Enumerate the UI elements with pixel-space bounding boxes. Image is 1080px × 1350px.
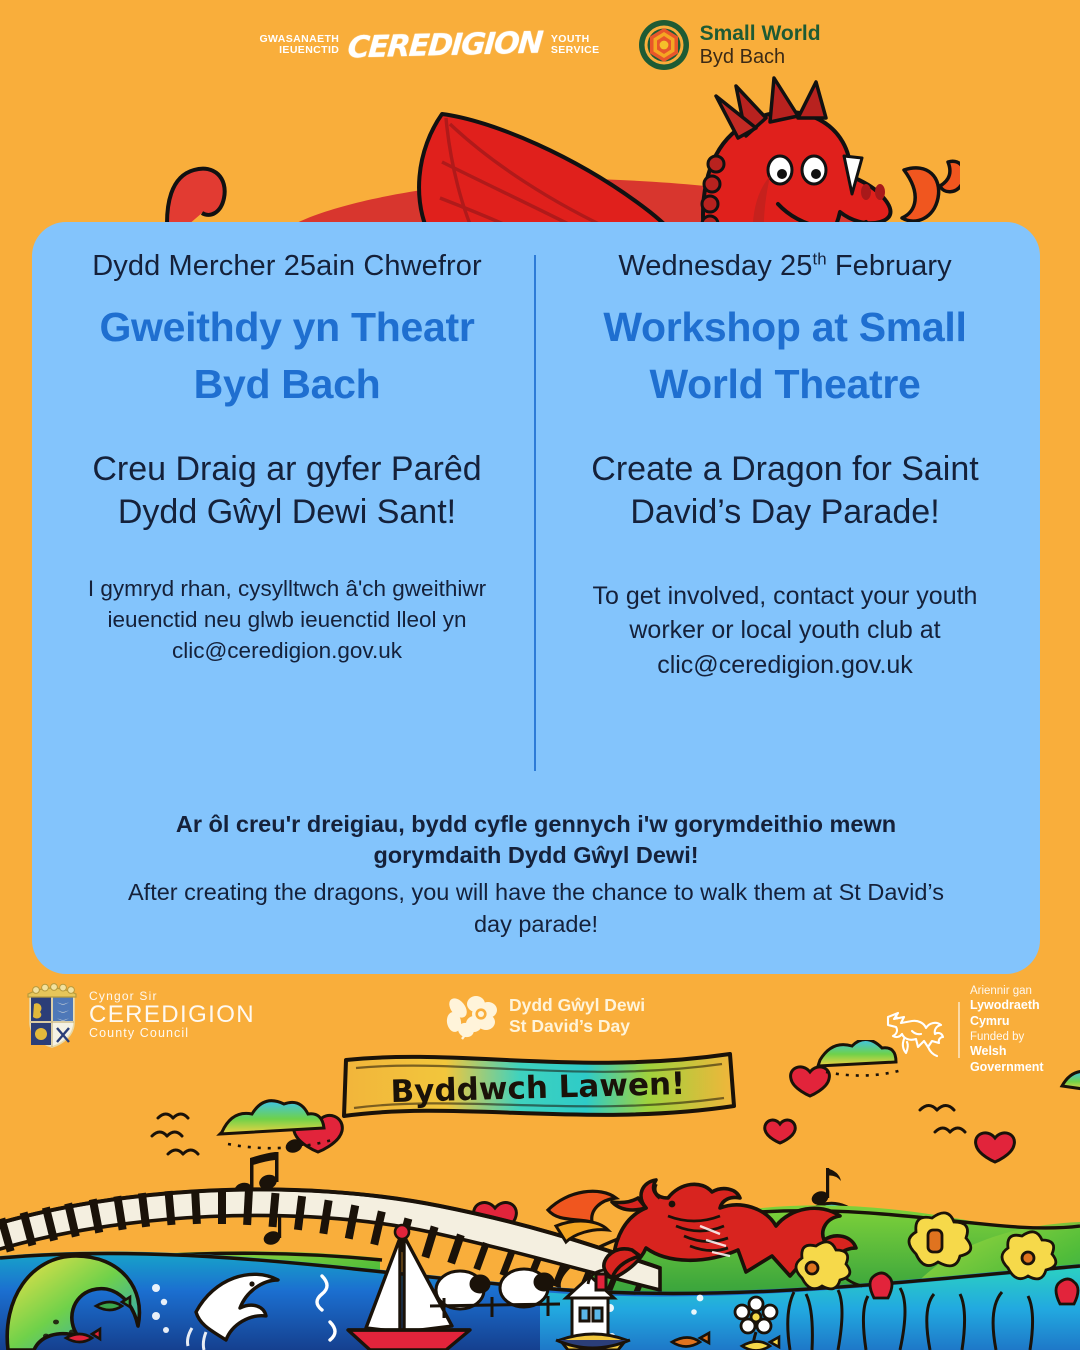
english-date-prefix: Wednesday 25 — [618, 250, 812, 282]
footnote-block: Ar ôl creu'r dreigiau, bydd cyfle gennyc… — [32, 809, 1040, 940]
english-title: Workshop at Small World Theatre — [562, 299, 1008, 412]
footnote-welsh: Ar ôl creu'r dreigiau, bydd cyfle gennyc… — [112, 809, 960, 871]
council-line3: County Council — [89, 1027, 255, 1040]
youth-service-welsh-line2: IEUENCTID — [259, 45, 339, 56]
wg-english-small: Funded by — [970, 1030, 1080, 1044]
ceredigion-wordmark: CEREDIGION — [347, 25, 544, 65]
wg-english-bold: Welsh Government — [970, 1044, 1080, 1075]
small-world-logo-text: Small World Byd Bach — [700, 22, 821, 68]
st-davids-day-logo: Dydd Gŵyl Dewi St David’s Day — [444, 992, 645, 1040]
council-line2: CEREDIGION — [89, 1002, 255, 1027]
welsh-contact: I gymryd rhan, cysylltwch â'ch gweithiwr… — [64, 573, 510, 666]
st-davids-english: St David’s Day — [509, 1016, 645, 1037]
coat-of-arms-icon — [24, 982, 80, 1048]
welsh-government-logo-text: Ariennir gan Lywodraeth Cymru Funded by … — [970, 984, 1080, 1075]
footer-logo-bar: Cyngor Sir CEREDIGION County Council — [0, 982, 1080, 1056]
english-subtitle: Create a Dragon for Saint David’s Day Pa… — [562, 448, 1008, 534]
ceredigion-youth-service-logo: GWASANAETH IEUENCTID CEREDIGION YOUTH SE… — [259, 28, 599, 63]
small-world-line2: Byd Bach — [700, 46, 821, 68]
header-logo-bar: GWASANAETH IEUENCTID CEREDIGION YOUTH SE… — [0, 0, 1080, 90]
small-world-line1: Small World — [700, 22, 821, 46]
st-davids-logo-text: Dydd Gŵyl Dewi St David’s Day — [509, 995, 645, 1036]
welsh-government-logo: Ariennir gan Lywodraeth Cymru Funded by … — [884, 984, 1080, 1075]
small-world-flower-icon — [638, 19, 690, 71]
welsh-column: Dydd Mercher 25ain Chwefror Gweithdy yn … — [38, 250, 536, 682]
wg-welsh-small: Ariennir gan — [970, 984, 1080, 998]
ceredigion-county-council-logo: Cyngor Sir CEREDIGION County Council — [24, 982, 255, 1048]
english-date-suffix: February — [827, 250, 952, 282]
english-date: Wednesday 25th February — [562, 250, 1008, 283]
poster-root: GWASANAETH IEUENCTID CEREDIGION YOUTH SE… — [0, 0, 1080, 1350]
st-davids-welsh: Dydd Gŵyl Dewi — [509, 995, 645, 1016]
welsh-title: Gweithdy yn Theatr Byd Bach — [64, 299, 510, 412]
daffodil-icon — [444, 992, 500, 1040]
english-contact: To get involved, contact your youth work… — [562, 579, 1008, 683]
byddwch-lawen-banner: Byddwch Lawen! — [338, 1046, 738, 1128]
wg-welsh-bold: Lywodraeth Cymru — [970, 998, 1080, 1029]
council-logo-text: Cyngor Sir CEREDIGION County Council — [89, 990, 255, 1041]
main-content-card: Dydd Mercher 25ain Chwefror Gweithdy yn … — [32, 222, 1040, 974]
english-date-ordinal: th — [812, 249, 826, 268]
youth-service-welsh-text: GWASANAETH IEUENCTID — [259, 34, 339, 55]
welsh-subtitle: Creu Draig ar gyfer Parêd Dydd Gŵyl Dewi… — [64, 448, 510, 534]
footnote-english: After creating the dragons, you will hav… — [112, 877, 960, 940]
welsh-date: Dydd Mercher 25ain Chwefror — [64, 250, 510, 283]
english-column: Wednesday 25th February Workshop at Smal… — [536, 250, 1034, 682]
youth-service-english-text: YOUTH SERVICE — [551, 34, 600, 55]
bilingual-columns: Dydd Mercher 25ain Chwefror Gweithdy yn … — [32, 222, 1040, 682]
welsh-dragon-icon — [884, 1001, 948, 1059]
small-world-theatre-logo: Small World Byd Bach — [638, 19, 821, 71]
welsh-government-divider — [958, 1002, 960, 1058]
youth-service-english-line2: SERVICE — [551, 45, 600, 56]
